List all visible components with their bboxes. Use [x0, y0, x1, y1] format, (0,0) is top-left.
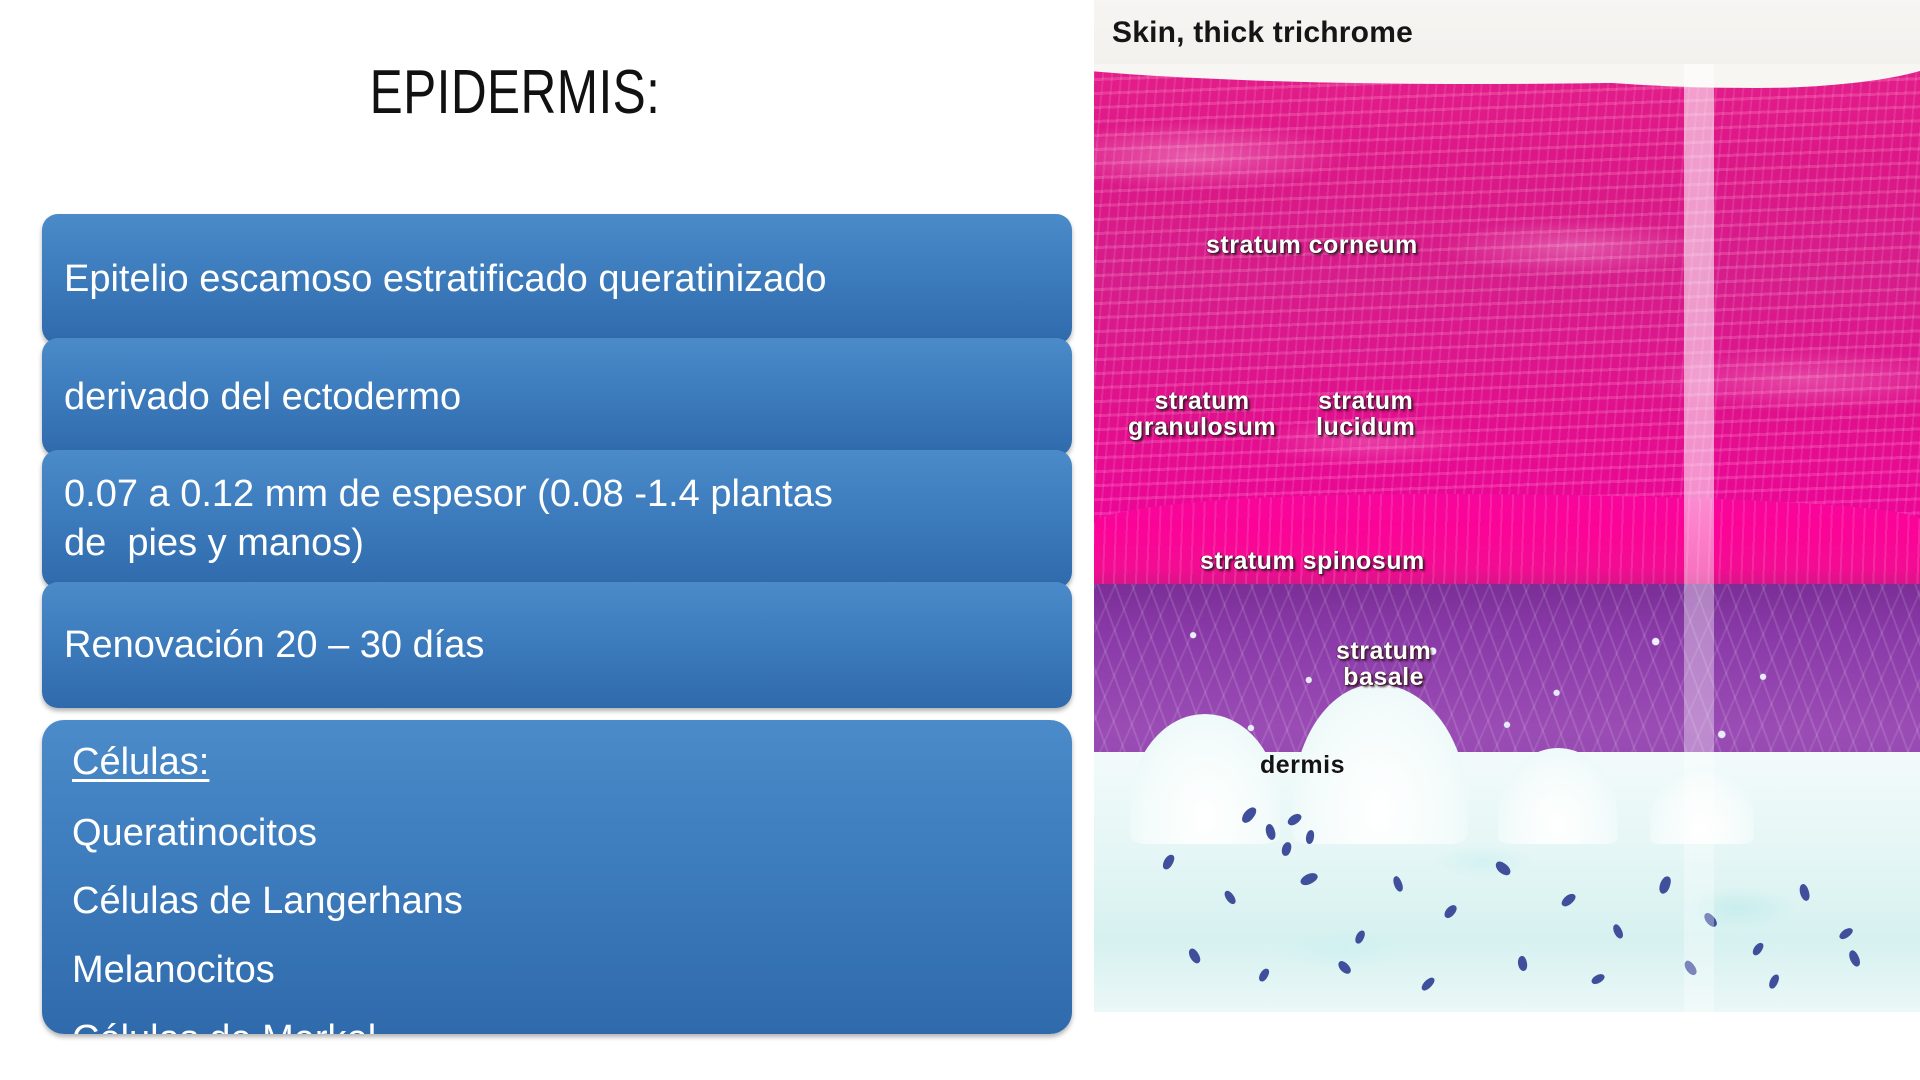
bullet-line: de pies y manos) [64, 519, 1050, 568]
bullet-line: derivado del ectodermo [64, 373, 1050, 422]
label-stratum-lucidum: stratum lucidum [1316, 388, 1415, 441]
tissue-section-image [1094, 64, 1920, 1012]
bullet-line: Epitelio escamoso estratificado queratin… [64, 255, 1050, 304]
list-item: Células de Merkel [64, 1015, 1050, 1035]
label-stratum-granulosum: stratum granulosum [1128, 388, 1276, 441]
list-item: Melanocitos [64, 946, 1050, 995]
cell-list-heading: Células: [64, 738, 1050, 787]
bullet-box-renewal-rate[interactable]: Renovación 20 – 30 días [42, 582, 1072, 708]
bullet-box-thickness[interactable]: 0.07 a 0.12 mm de espesor (0.08 -1.4 pla… [42, 450, 1072, 588]
bullet-line: 0.07 a 0.12 mm de espesor (0.08 -1.4 pla… [64, 470, 1050, 519]
bullet-line: Renovación 20 – 30 días [64, 621, 1050, 670]
label-stratum-spinosum: stratum spinosum [1200, 548, 1425, 574]
page-title: EPIDERMIS: [103, 60, 927, 125]
histology-figure: Skin, thick trichrome [1094, 0, 1920, 1012]
label-stratum-basale: stratum basale [1336, 638, 1431, 691]
bullet-box-cell-types[interactable]: Células: Queratinocitos Células de Lange… [42, 720, 1072, 1034]
bullet-box-embryonic-origin[interactable]: derivado del ectodermo [42, 338, 1072, 456]
list-item: Queratinocitos [64, 809, 1050, 858]
bullet-box-epithelium-description[interactable]: Epitelio escamoso estratificado queratin… [42, 214, 1072, 344]
label-stratum-corneum: stratum corneum [1206, 232, 1418, 258]
figure-caption: Skin, thick trichrome [1112, 16, 1413, 50]
list-item: Células de Langerhans [64, 877, 1050, 926]
cell-list-heading-text: Células: [72, 741, 209, 783]
slide-content-panel: EPIDERMIS: Epitelio escamoso estratifica… [0, 0, 1080, 1080]
label-dermis: dermis [1260, 752, 1345, 778]
